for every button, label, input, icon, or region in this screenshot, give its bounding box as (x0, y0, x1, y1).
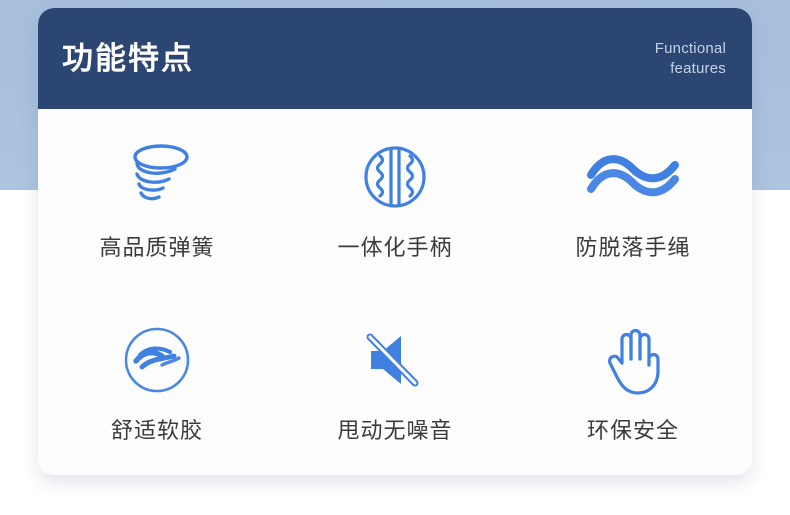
feature-label: 高品质弹簧 (99, 230, 214, 262)
feature-item-handle: 一体化手柄 (276, 109, 514, 292)
header-subtitle-english: Functional features (655, 39, 726, 79)
feature-item-spring: 高品质弹簧 (38, 109, 276, 292)
feature-card: 功能特点 Functional features 高品质弹簧 (38, 8, 752, 475)
feature-grid: 高品质弹簧 一体化手柄 防脱落 (38, 109, 752, 475)
feature-label: 环保安全 (587, 413, 679, 445)
feature-item-soft-rubber: 舒适软胶 (38, 292, 276, 475)
integrated-handle-icon (352, 140, 438, 214)
muted-speaker-icon (352, 323, 438, 397)
feature-item-eco-safe: 环保安全 (514, 292, 752, 475)
feature-item-wrist-strap: 防脱落手绳 (514, 109, 752, 292)
feature-label: 防脱落手绳 (575, 230, 690, 262)
open-hand-icon (590, 323, 676, 397)
page-title: 功能特点 (62, 43, 194, 74)
soft-rubber-circle-icon (114, 323, 200, 397)
feature-label: 一体化手柄 (337, 230, 452, 262)
wrist-strap-wave-icon (590, 140, 676, 214)
spring-coil-icon (114, 140, 200, 214)
card-header: 功能特点 Functional features (38, 8, 752, 109)
feature-item-no-noise: 甩动无噪音 (276, 292, 514, 475)
feature-label: 甩动无噪音 (337, 413, 452, 445)
feature-label: 舒适软胶 (111, 413, 203, 445)
